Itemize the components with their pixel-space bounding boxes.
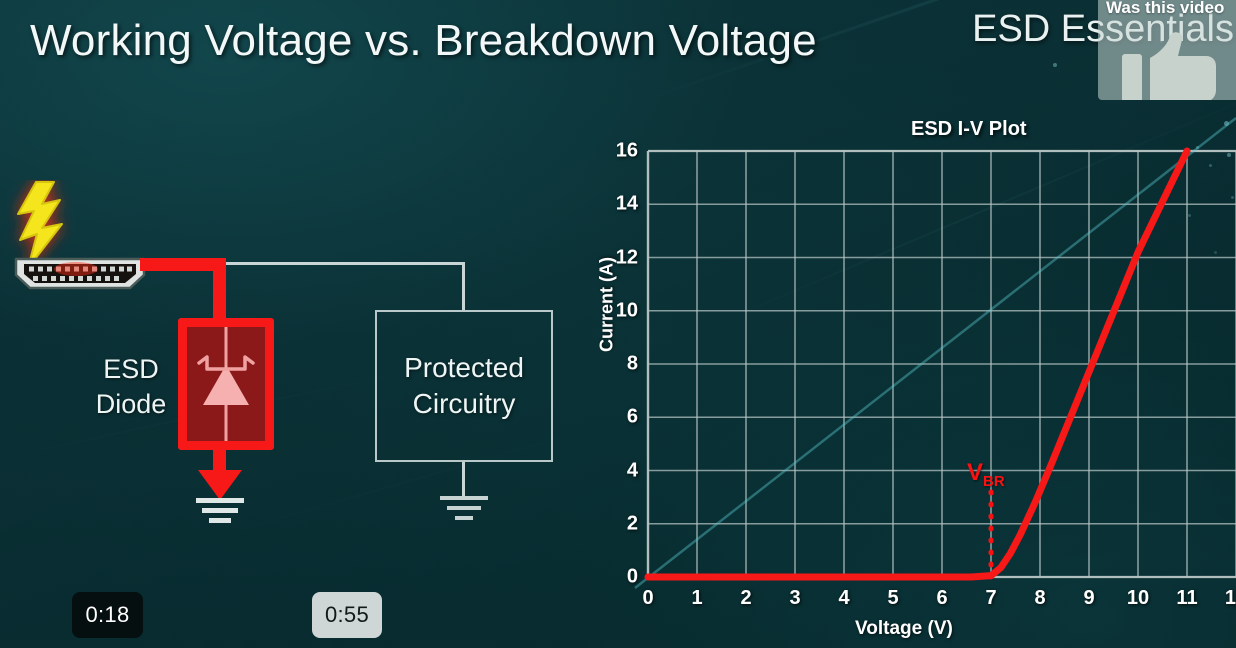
wire-surge-vertical [213,258,226,324]
background-light-streak [635,118,1236,588]
circuit-diagram: ESD Diode Protected Circuitry [0,170,600,550]
wire-signal-vertical [462,262,465,312]
page-title: Working Voltage vs. Breakdown Voltage [30,16,817,66]
ground-symbol-esd [188,470,252,530]
protected-circuitry-label: Protected Circuitry [375,350,553,423]
esd-iv-chart: ESD I-V Plot Current (A) Voltage (V) 024… [575,108,1236,648]
vbr-label-sub: BR [983,473,1005,490]
esd-diode-box[interactable] [178,318,274,450]
timestamp-chip-total[interactable]: 0:55 [312,592,382,638]
ground-symbol-protected [436,496,492,526]
thumbs-up-icon[interactable] [1122,32,1218,100]
slide-canvas: Working Voltage vs. Breakdown Voltage ES… [0,0,1236,648]
hdmi-connector-icon [14,255,146,291]
wire-protected-to-ground [462,462,465,500]
zener-diode-symbol [187,327,265,441]
video-survey-overlay[interactable]: Was this video [1098,0,1236,100]
survey-question-text: Was this video [1106,0,1224,18]
esd-diode-label-line1: ESD [88,352,174,387]
esd-diode-label-line2: Diode [88,387,174,422]
timestamp-chip-total-value: 0:55 [325,602,369,628]
breakdown-voltage-label: VBR [967,459,1005,490]
chart-gridlines [648,151,1236,577]
protected-label-line2: Circuitry [375,386,553,422]
protected-label-line1: Protected [375,350,553,386]
vbr-label-main: V [967,459,983,486]
chart-plot-area [575,108,1236,648]
timestamp-chip-current-value: 0:18 [85,602,129,628]
esd-diode-label: ESD Diode [88,352,174,421]
timestamp-chip-current[interactable]: 0:18 [72,592,143,638]
wire-signal-horizontal [226,262,465,265]
